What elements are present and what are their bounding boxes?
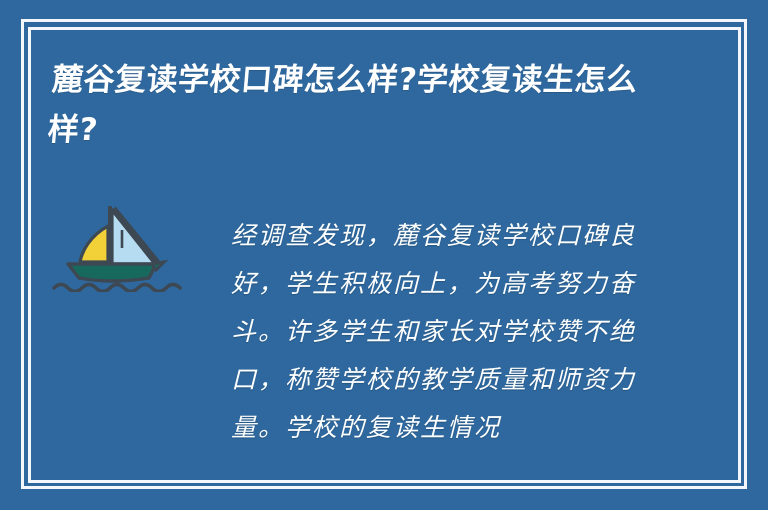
article-body: 经调查发现，麓谷复读学校口碑良好，学生积极向上，为高考努力奋斗。许多学生和家长对… [231,212,651,452]
sailboat-icon [54,206,180,292]
sailboat-illustration [52,196,212,292]
page-title: 麓谷复读学校口碑怎么样?学校复读生怎么样? [46,55,655,155]
article-card: 麓谷复读学校口碑怎么样?学校复读生怎么样? [0,0,768,510]
